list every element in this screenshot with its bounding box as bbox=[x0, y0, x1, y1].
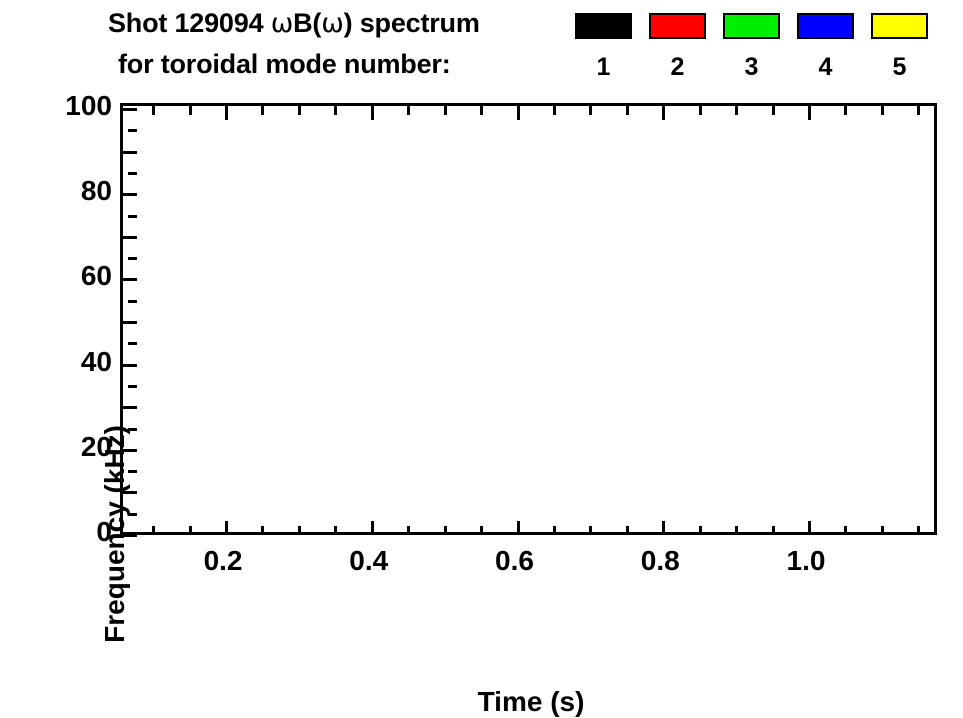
x-tick-top bbox=[152, 106, 155, 115]
y-tick bbox=[123, 364, 137, 367]
y-tick-label: 100 bbox=[65, 90, 112, 122]
title-suffix: ) spectrum bbox=[344, 8, 480, 38]
y-tick bbox=[123, 491, 137, 494]
legend-label-2: 2 bbox=[649, 53, 706, 82]
legend-swatch-5 bbox=[871, 13, 928, 39]
x-tick-label: 1.0 bbox=[787, 545, 826, 577]
figure-title-line2: for toroidal mode number: bbox=[118, 49, 451, 80]
legend-label-3: 3 bbox=[723, 53, 780, 82]
omega-symbol-2: ω bbox=[321, 8, 343, 39]
spectrogram-figure: Shot 129094 ωB(ω) spectrum for toroidal … bbox=[0, 0, 963, 615]
title-prefix: Shot 129094 bbox=[108, 8, 271, 38]
legend-swatch-1 bbox=[575, 13, 632, 39]
x-tick bbox=[298, 526, 301, 535]
x-tick-top bbox=[735, 106, 738, 115]
legend-swatch-2 bbox=[649, 13, 706, 39]
x-tick-top bbox=[553, 106, 556, 115]
x-tick bbox=[699, 526, 702, 535]
y-tick-label: 80 bbox=[81, 175, 112, 207]
x-tick bbox=[334, 526, 337, 535]
y-tick bbox=[123, 321, 137, 324]
x-tick-top bbox=[261, 106, 264, 115]
x-tick-label: 0.8 bbox=[641, 545, 680, 577]
y-tick bbox=[128, 215, 137, 218]
y-tick bbox=[128, 513, 137, 516]
y-tick-label: 40 bbox=[81, 346, 112, 378]
y-tick-label: 60 bbox=[81, 260, 112, 292]
y-tick bbox=[128, 129, 137, 132]
y-tick bbox=[128, 428, 137, 431]
x-tick bbox=[772, 526, 775, 535]
x-tick-label: 0.2 bbox=[204, 545, 243, 577]
x-axis-title: Time (s) bbox=[478, 686, 585, 718]
title-mid: B( bbox=[293, 8, 321, 38]
x-tick bbox=[917, 526, 920, 535]
x-tick-top bbox=[917, 106, 920, 115]
legend-label-5: 5 bbox=[871, 53, 928, 82]
legend-labels: 12345 bbox=[575, 53, 928, 82]
x-tick-top bbox=[480, 106, 483, 115]
x-tick bbox=[189, 526, 192, 535]
x-tick-top bbox=[334, 106, 337, 115]
x-tick-top bbox=[444, 106, 447, 115]
x-tick bbox=[371, 521, 374, 535]
x-tick-top bbox=[517, 106, 520, 120]
x-tick bbox=[261, 526, 264, 535]
y-tick-label: 20 bbox=[81, 431, 112, 463]
x-tick-top bbox=[662, 106, 665, 120]
y-tick bbox=[128, 257, 137, 260]
y-tick bbox=[123, 449, 137, 452]
x-tick-top bbox=[881, 106, 884, 115]
x-tick bbox=[480, 526, 483, 535]
x-tick bbox=[808, 521, 811, 535]
plot-frame: Frequency (kHz) Time (s) bbox=[120, 103, 937, 535]
x-tick bbox=[225, 521, 228, 535]
x-tick-top bbox=[589, 106, 592, 115]
y-tick-label: 0 bbox=[96, 516, 112, 548]
x-tick-top bbox=[844, 106, 847, 115]
y-tick bbox=[123, 278, 137, 281]
x-tick bbox=[844, 526, 847, 535]
x-tick bbox=[662, 521, 665, 535]
y-tick bbox=[123, 406, 137, 409]
x-tick bbox=[881, 526, 884, 535]
x-tick bbox=[444, 526, 447, 535]
figure-title-line1: Shot 129094 ωB(ω) spectrum bbox=[108, 8, 480, 39]
x-tick-top bbox=[407, 106, 410, 115]
omega-symbol-1: ω bbox=[271, 8, 293, 39]
y-tick bbox=[123, 193, 137, 196]
y-tick bbox=[128, 300, 137, 303]
y-tick bbox=[128, 342, 137, 345]
legend-swatch-3 bbox=[723, 13, 780, 39]
x-tick bbox=[553, 526, 556, 535]
y-tick bbox=[123, 534, 137, 537]
x-tick bbox=[517, 521, 520, 535]
x-tick bbox=[152, 526, 155, 535]
y-tick bbox=[128, 172, 137, 175]
x-tick-top bbox=[699, 106, 702, 115]
x-tick-top bbox=[772, 106, 775, 115]
x-tick-label: 0.4 bbox=[349, 545, 388, 577]
legend-swatch-4 bbox=[797, 13, 854, 39]
x-tick bbox=[407, 526, 410, 535]
x-tick-top bbox=[298, 106, 301, 115]
x-tick-top bbox=[225, 106, 228, 120]
y-tick bbox=[123, 108, 137, 111]
x-tick bbox=[626, 526, 629, 535]
legend-label-4: 4 bbox=[797, 53, 854, 82]
x-tick-top bbox=[189, 106, 192, 115]
legend-label-1: 1 bbox=[575, 53, 632, 82]
y-tick bbox=[123, 151, 137, 154]
x-tick-label: 0.6 bbox=[495, 545, 534, 577]
x-tick bbox=[735, 526, 738, 535]
legend-swatches bbox=[575, 13, 928, 39]
x-tick-top bbox=[626, 106, 629, 115]
y-tick bbox=[128, 385, 137, 388]
x-tick-top bbox=[808, 106, 811, 120]
y-tick bbox=[123, 236, 137, 239]
y-tick bbox=[128, 470, 137, 473]
x-tick-top bbox=[371, 106, 374, 120]
x-tick bbox=[589, 526, 592, 535]
